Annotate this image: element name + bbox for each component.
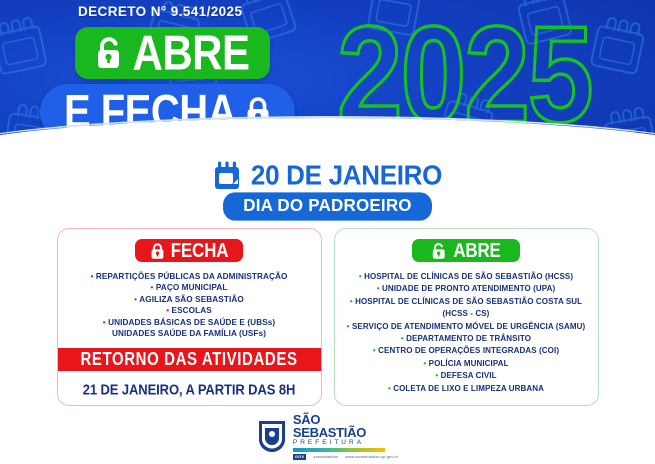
panel-abre-label: ABRE bbox=[453, 240, 500, 260]
list-item: UNIDADES BÁSICAS DE SAÚDE E (UBSs) bbox=[64, 317, 315, 328]
panel-fecha-list: REPARTIÇÕES PÚBLICAS DA ADMINISTRAÇÃOPAÇ… bbox=[58, 271, 321, 339]
list-item: HOSPITAL DE CLÍNICAS DE SÃO SEBASTIÃO CO… bbox=[341, 296, 592, 308]
footer-line1: SÃO bbox=[293, 413, 398, 426]
list-item: HOSPITAL DE CLÍNICAS DE SÃO SEBASTIÃO (H… bbox=[341, 271, 592, 283]
list-item: (HCSS - CS) bbox=[341, 308, 592, 320]
list-item: REPARTIÇÕES PÚBLICAS DA ADMINISTRAÇÃO bbox=[64, 271, 315, 282]
date-text: 20 DE JANEIRO bbox=[251, 159, 442, 192]
footer-small-row: GOV saosebastiao www.saosebastiao.sp.gov… bbox=[293, 454, 398, 460]
closed-padlock-icon bbox=[150, 242, 165, 260]
return-subtitle: 21 DE JANEIRO, A PARTIR DAS 8H bbox=[58, 381, 321, 398]
panel-fecha: FECHA REPARTIÇÕES PÚBLICAS DA ADMINISTRA… bbox=[57, 228, 322, 406]
footer-handle: saosebastiao bbox=[313, 455, 338, 459]
footer-brand-text: SÃO SEBASTIÃO PREFEITURA GOV saosebastia… bbox=[293, 413, 398, 461]
list-item: DEPARTAMENTO DE TRÂNSITO bbox=[341, 333, 592, 345]
patron-day-badge: DIA DO PADROEIRO bbox=[0, 193, 655, 220]
panel-abre-badge: ABRE bbox=[412, 239, 520, 262]
open-padlock-icon bbox=[95, 35, 125, 71]
list-item: ESCOLAS bbox=[64, 305, 315, 316]
coat-of-arms-icon bbox=[257, 419, 287, 453]
list-item: COLETA DE LIXO E LIMPEZA URBANA bbox=[341, 383, 592, 395]
decree-number: DECRETO N° 9.541/2025 bbox=[78, 4, 242, 19]
list-item: PAÇO MUNICIPAL bbox=[64, 282, 315, 293]
patron-day-label: DIA DO PADROEIRO bbox=[223, 192, 432, 220]
panels-container: FECHA REPARTIÇÕES PÚBLICAS DA ADMINISTRA… bbox=[0, 228, 655, 406]
list-item: DEFESA CIVIL bbox=[341, 370, 592, 382]
poster: DECRETO N° 9.541/2025 ABRE E FECHA 2025 bbox=[0, 0, 655, 464]
panel-fecha-badge: FECHA bbox=[135, 239, 243, 262]
footer-line2: SEBASTIÃO bbox=[293, 426, 398, 439]
list-item: SERVIÇO DE ATENDIMENTO MÓVEL DE URGÊNCIA… bbox=[341, 321, 592, 333]
list-item: UNIDADES SAÚDE DA FAMÍLIA (USFs) bbox=[64, 328, 315, 339]
list-item: POLÍCIA MUNICIPAL bbox=[341, 358, 592, 370]
panel-abre: ABRE HOSPITAL DE CLÍNICAS DE SÃO SEBASTI… bbox=[334, 228, 599, 406]
list-item: UNIDADE DE PRONTO ATENDIMENTO (UPA) bbox=[341, 283, 592, 295]
footer-gradient-bar bbox=[293, 448, 385, 452]
footer-logo: SÃO SEBASTIÃO PREFEITURA GOV saosebastia… bbox=[0, 413, 655, 461]
calendar-icon bbox=[213, 161, 241, 191]
header-badge-abre: ABRE bbox=[75, 27, 270, 79]
date-row: 20 DE JANEIRO bbox=[0, 160, 655, 191]
footer-line3: PREFEITURA bbox=[293, 440, 398, 447]
return-bar-label: RETORNO DAS ATIVIDADES bbox=[80, 349, 297, 370]
header-badge-abre-label: ABRE bbox=[132, 28, 249, 78]
open-padlock-icon bbox=[431, 242, 447, 260]
list-item: CENTRO DE OPERAÇÕES INTEGRADAS (COI) bbox=[341, 345, 592, 357]
footer-site: www.saosebastiao.sp.gov.br bbox=[345, 455, 398, 459]
return-bar: RETORNO DAS ATIVIDADES bbox=[58, 348, 321, 371]
panel-abre-list: HOSPITAL DE CLÍNICAS DE SÃO SEBASTIÃO (H… bbox=[335, 271, 598, 395]
panel-fecha-label: FECHA bbox=[171, 240, 229, 260]
list-item: AGILIZA SÃO SEBASTIÃO bbox=[64, 294, 315, 305]
footer-tag: GOV bbox=[293, 454, 307, 460]
